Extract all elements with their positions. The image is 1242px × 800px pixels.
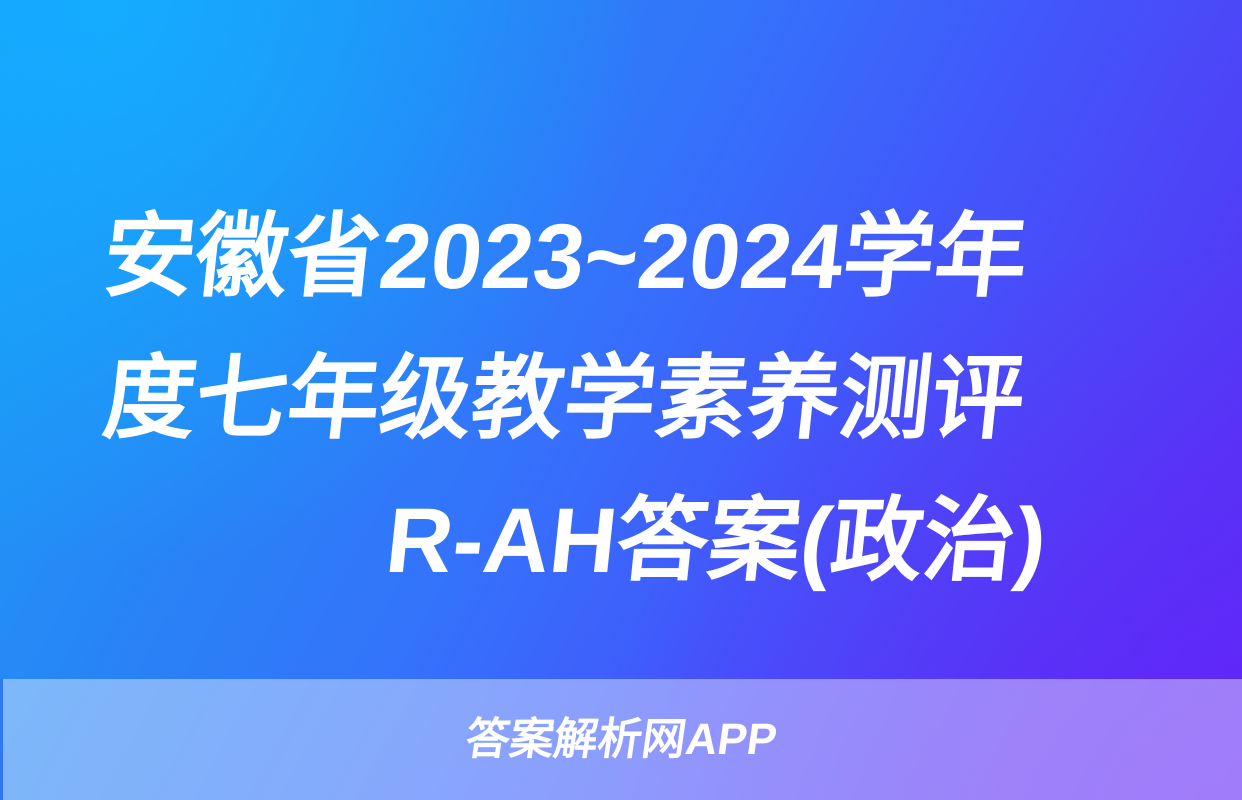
poster-canvas: 安徽省2023~2024学年 度七年级教学素养测评 R-AH答案(政治) 答案解… — [0, 0, 1242, 800]
footer-left-edge-strip — [0, 679, 3, 800]
title-line-2: 度七年级教学素养测评 — [97, 328, 1146, 470]
footer-brand-band: 答案解析网APP — [0, 679, 1242, 800]
poster-title: 安徽省2023~2024学年 度七年级教学素养测评 R-AH答案(政治) — [104, 186, 1138, 612]
footer-brand-label: 答案解析网APP — [463, 718, 780, 762]
title-line-1: 安徽省2023~2024学年 — [97, 186, 1146, 328]
title-line-3: R-AH答案(政治) — [97, 470, 1146, 612]
